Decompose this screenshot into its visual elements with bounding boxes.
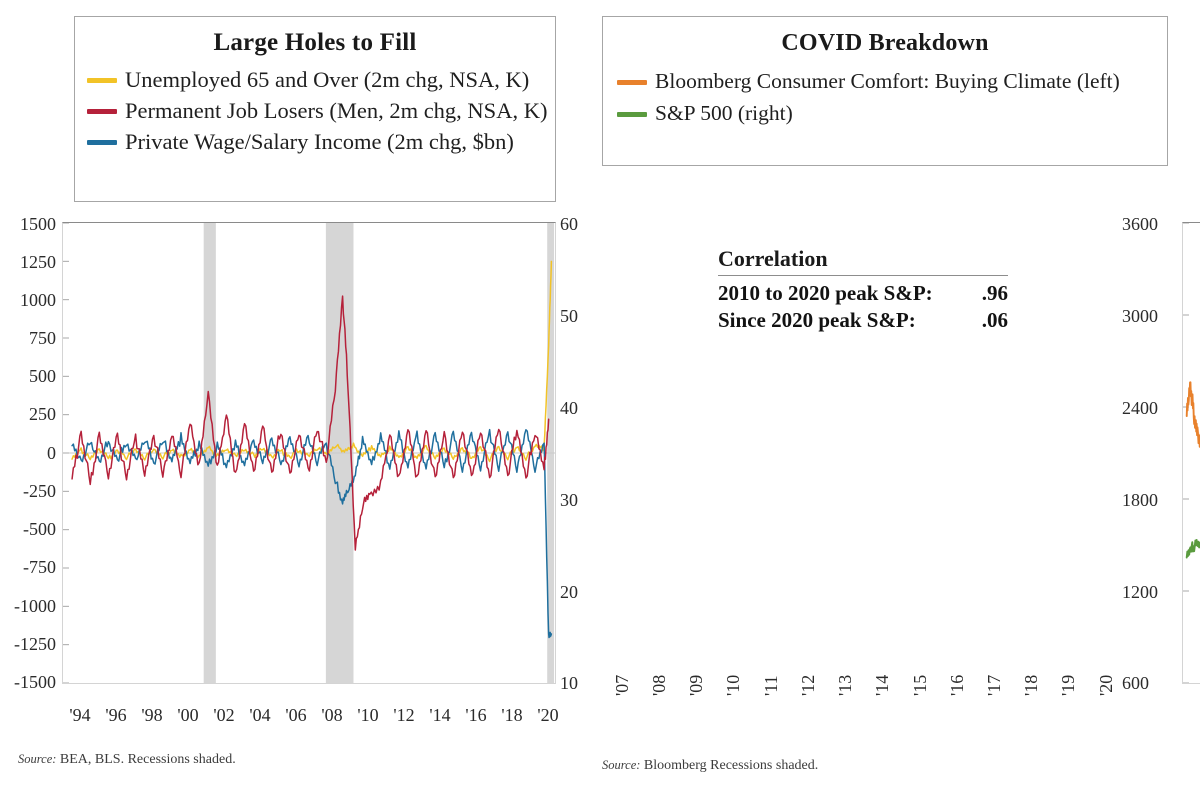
left-xtick-12: '12 [393, 706, 414, 724]
right-ytick-left-30: 30 [540, 491, 578, 509]
correlation-row-since-2020: Since 2020 peak S&P: .06 [718, 307, 1008, 334]
left-ytick--1000: -1000 [0, 597, 56, 615]
right-source-text: Bloomberg Recessions shaded. [644, 758, 818, 773]
right-xtick-09: '09 [687, 675, 705, 696]
legend-label-sp-500: S&P 500 (right) [655, 103, 793, 125]
legend-item-unemployed-65-and-over[interactable]: Unemployed 65 and Over (2m chg, NSA, K) [75, 65, 555, 96]
right-xtick-11: '11 [762, 675, 780, 696]
legend-item-sp-500[interactable]: S&P 500 (right) [603, 98, 1167, 130]
left-ytick-0: 0 [0, 444, 56, 462]
right-legend-box: COVID Breakdown Bloomberg Consumer Comfo… [602, 16, 1168, 166]
left-xtick-02: '02 [213, 706, 234, 724]
right-ytick-right-3000: 3000 [1122, 307, 1182, 325]
right-xtick-20: '20 [1097, 675, 1115, 696]
right-ytick-right-600: 600 [1122, 674, 1182, 692]
right-source-note: Source: Bloomberg Recessions shaded. [602, 758, 818, 774]
right-ytick-right-1800: 1800 [1122, 491, 1182, 509]
left-xtick-20: '20 [537, 706, 558, 724]
right-xtick-12: '12 [799, 675, 817, 696]
right-xtick-14: '14 [873, 675, 891, 696]
right-chart-title: COVID Breakdown [603, 30, 1167, 57]
legend-label-unemployed-65-and-over: Unemployed 65 and Over (2m chg, NSA, K) [125, 69, 529, 92]
legend-item-bloomberg-consumer-comfort[interactable]: Bloomberg Consumer Comfort: Buying Clima… [603, 66, 1167, 98]
correlation-divider [718, 275, 1008, 276]
left-xtick-18: '18 [501, 706, 522, 724]
correlation-row-2010-to-2020: 2010 to 2020 peak S&P: .96 [718, 280, 1008, 307]
right-ytick-left-20: 20 [540, 583, 578, 601]
left-ytick-750: 750 [0, 329, 56, 347]
left-ytick--1500: -1500 [0, 673, 56, 691]
left-xtick-00: '00 [177, 706, 198, 724]
left-chart-panel: Large Holes to Fill Unemployed 65 and Ov… [0, 0, 590, 800]
right-xtick-17: '17 [985, 675, 1003, 696]
left-xtick-06: '06 [285, 706, 306, 724]
left-ytick-1000: 1000 [0, 291, 56, 309]
correlation-row-value-2: .06 [974, 307, 1008, 334]
right-xtick-08: '08 [650, 675, 668, 696]
left-ytick-1500: 1500 [0, 215, 56, 233]
left-ytick-1250: 1250 [0, 253, 56, 271]
right-chart-panel: COVID Breakdown Bloomberg Consumer Comfo… [580, 0, 1200, 800]
left-xtick-94: '94 [69, 706, 90, 724]
legend-swatch-permanent-job-losers [87, 109, 117, 114]
right-xtick-19: '19 [1059, 675, 1077, 696]
right-chart-svg [1183, 223, 1200, 683]
left-legend-box: Large Holes to Fill Unemployed 65 and Ov… [74, 16, 556, 202]
left-chart-title: Large Holes to Fill [75, 29, 555, 57]
legend-swatch-private-wage-salary-income [87, 140, 117, 145]
left-ytick-500: 500 [0, 367, 56, 385]
left-xtick-04: '04 [249, 706, 270, 724]
legend-label-permanent-job-losers: Permanent Job Losers (Men, 2m chg, NSA, … [125, 100, 547, 123]
left-chart-svg [63, 223, 555, 683]
left-ytick--250: -250 [0, 482, 56, 500]
left-xtick-98: '98 [141, 706, 162, 724]
left-ytick-250: 250 [0, 405, 56, 423]
right-xtick-16: '16 [948, 675, 966, 696]
right-xtick-15: '15 [911, 675, 929, 696]
right-ytick-left-60: 60 [540, 215, 578, 233]
right-source-word: Source: [602, 758, 640, 772]
left-ytick--1250: -1250 [0, 635, 56, 653]
left-xtick-16: '16 [465, 706, 486, 724]
correlation-row-value-1: .96 [974, 280, 1008, 307]
correlation-title: Correlation [718, 246, 1008, 275]
left-ytick--500: -500 [0, 520, 56, 538]
right-ytick-left-40: 40 [540, 399, 578, 417]
right-xtick-07: '07 [613, 675, 631, 696]
left-source-note: Source: BEA, BLS. Recessions shaded. [18, 752, 236, 768]
left-xtick-08: '08 [321, 706, 342, 724]
left-xtick-10: '10 [357, 706, 378, 724]
left-ytick--750: -750 [0, 558, 56, 576]
right-xtick-13: '13 [836, 675, 854, 696]
correlation-row-label-1: 2010 to 2020 peak S&P: [718, 280, 933, 307]
right-plot-area [1182, 222, 1200, 684]
legend-swatch-unemployed-65-and-over [87, 78, 117, 83]
legend-label-bloomberg-consumer-comfort: Bloomberg Consumer Comfort: Buying Clima… [655, 71, 1120, 93]
left-source-word: Source: [18, 752, 56, 766]
right-ytick-right-1200: 1200 [1122, 583, 1182, 601]
left-plot-area [62, 222, 556, 684]
legend-swatch-bloomberg-consumer-comfort [617, 80, 647, 85]
left-xtick-96: '96 [105, 706, 126, 724]
right-ytick-left-10: 10 [540, 674, 578, 692]
correlation-annotation: Correlation 2010 to 2020 peak S&P: .96 S… [718, 246, 1008, 334]
left-xtick-14: '14 [429, 706, 450, 724]
legend-item-private-wage-salary-income[interactable]: Private Wage/Salary Income (2m chg, $bn) [75, 127, 555, 158]
right-xtick-18: '18 [1022, 675, 1040, 696]
correlation-row-label-2: Since 2020 peak S&P: [718, 307, 916, 334]
legend-item-permanent-job-losers[interactable]: Permanent Job Losers (Men, 2m chg, NSA, … [75, 96, 555, 127]
right-xtick-10: '10 [724, 675, 742, 696]
left-source-text: BEA, BLS. Recessions shaded. [60, 752, 236, 767]
legend-swatch-sp-500 [617, 112, 647, 117]
right-ytick-left-50: 50 [540, 307, 578, 325]
right-ytick-right-2400: 2400 [1122, 399, 1182, 417]
right-ytick-right-3600: 3600 [1122, 215, 1182, 233]
legend-label-private-wage-salary-income: Private Wage/Salary Income (2m chg, $bn) [125, 131, 514, 154]
